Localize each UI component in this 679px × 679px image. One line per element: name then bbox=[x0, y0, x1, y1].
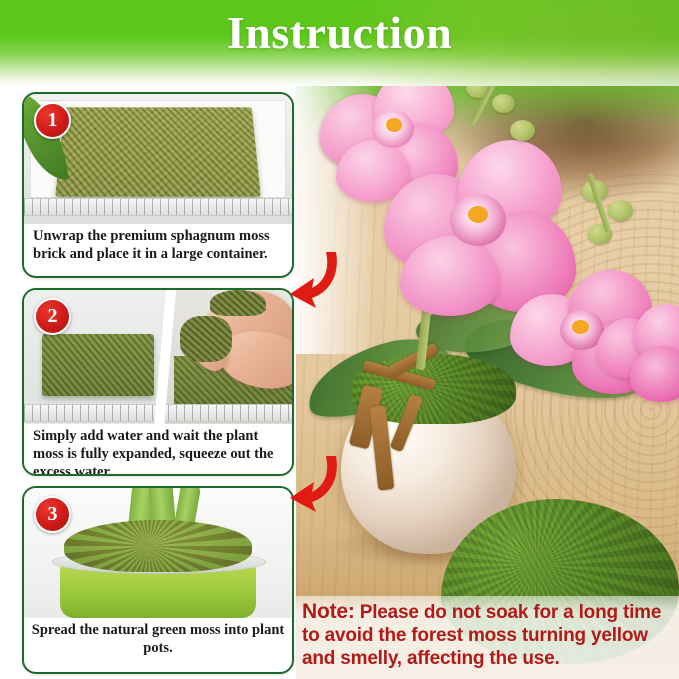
product-photo bbox=[296, 54, 679, 679]
orchid-bud-3 bbox=[510, 120, 535, 141]
step-card-2: 2 Simply add water and wait the plant mo… bbox=[22, 288, 294, 476]
step-2-caption: Simply add water and wait the plant moss… bbox=[24, 424, 292, 476]
orchid-bud-2 bbox=[492, 94, 515, 113]
arrow-step2-to-step3 bbox=[286, 452, 342, 514]
note-label: Note: bbox=[302, 600, 355, 623]
header-banner: Instruction bbox=[0, 0, 679, 86]
moss-in-plant-pot bbox=[64, 520, 252, 572]
note-text: Note: Please do not soak for a long time… bbox=[302, 600, 674, 670]
note-body: Please do not soak for a long time to av… bbox=[302, 602, 661, 669]
ruler bbox=[24, 198, 292, 216]
step-1-caption: Unwrap the premium sphagnum moss brick a… bbox=[24, 224, 292, 265]
orchid-bud-5 bbox=[608, 200, 633, 221]
moss-brick bbox=[55, 107, 261, 196]
step-card-1: 1 Unwrap the premium sphagnum moss brick… bbox=[22, 92, 294, 278]
step-3-caption: Spread the natural green moss into plant… bbox=[24, 618, 292, 659]
moss-clump-in-hand bbox=[180, 316, 232, 362]
step-1-image: 1 bbox=[24, 94, 292, 224]
ruler-ticks bbox=[24, 199, 292, 215]
step-3-image: 3 bbox=[24, 488, 292, 618]
page-title: Instruction bbox=[0, 6, 679, 59]
step-badge-1: 1 bbox=[34, 102, 71, 139]
arrow-step1-to-step2 bbox=[286, 248, 342, 310]
moss-in-tray bbox=[42, 334, 154, 396]
infographic-page: Instruction Note: Please do not soak for… bbox=[0, 0, 679, 679]
step-2-image: 2 bbox=[24, 290, 292, 424]
step-badge-3: 3 bbox=[34, 496, 71, 533]
moss-clump-top bbox=[210, 290, 266, 316]
step-card-3: 3 Spread the natural green moss into pla… bbox=[22, 486, 294, 674]
step-badge-2: 2 bbox=[34, 298, 71, 335]
